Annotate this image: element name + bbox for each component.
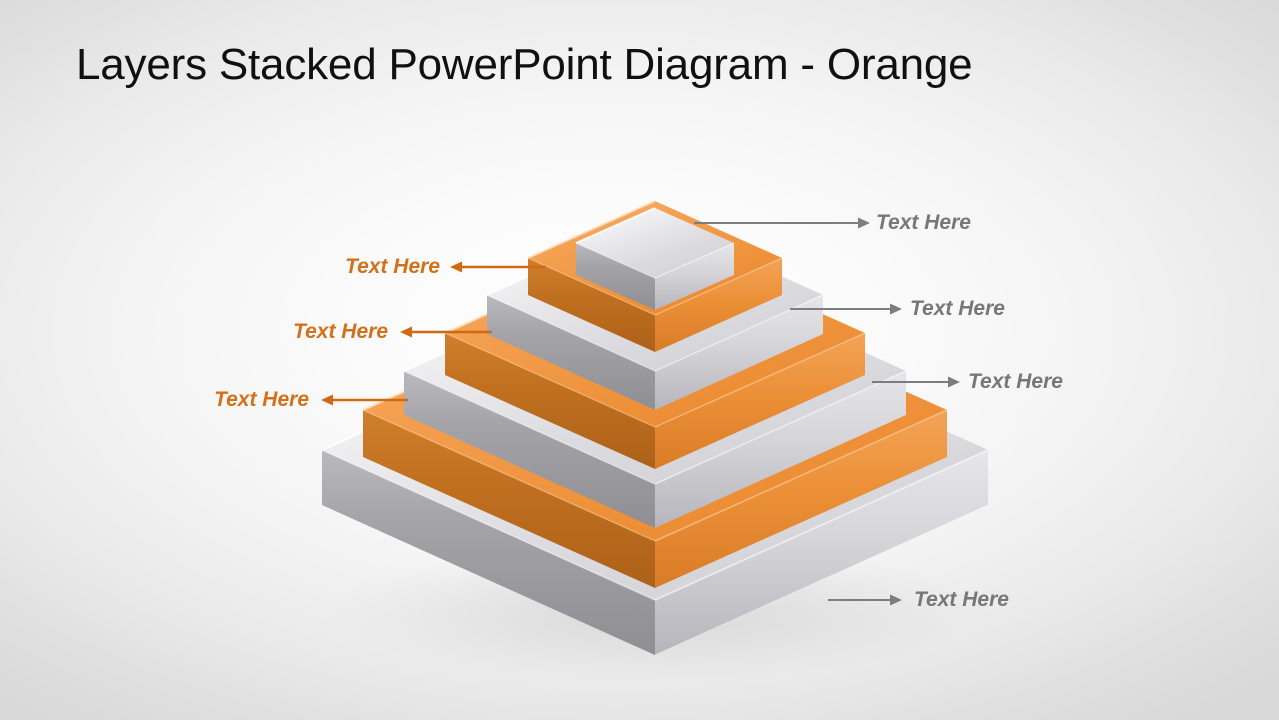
callout-right-2-label[interactable]: Text Here bbox=[910, 298, 1005, 319]
layers-stacked-diagram: Text Here Text Here Text Here Text Here … bbox=[0, 0, 1279, 720]
connector-right-1 bbox=[694, 218, 870, 229]
slide-canvas: Layers Stacked PowerPoint Diagram - Oran… bbox=[0, 0, 1279, 720]
callout-left-3-label[interactable]: Text Here bbox=[203, 389, 309, 410]
callout-right-3-label[interactable]: Text Here bbox=[968, 371, 1063, 392]
pyramid-stack bbox=[0, 0, 1279, 720]
callout-left-1-label[interactable]: Text Here bbox=[334, 256, 440, 277]
callout-right-4-label[interactable]: Text Here bbox=[914, 589, 1009, 610]
callout-right-1-label[interactable]: Text Here bbox=[876, 212, 971, 233]
callout-left-2-label[interactable]: Text Here bbox=[282, 321, 388, 342]
